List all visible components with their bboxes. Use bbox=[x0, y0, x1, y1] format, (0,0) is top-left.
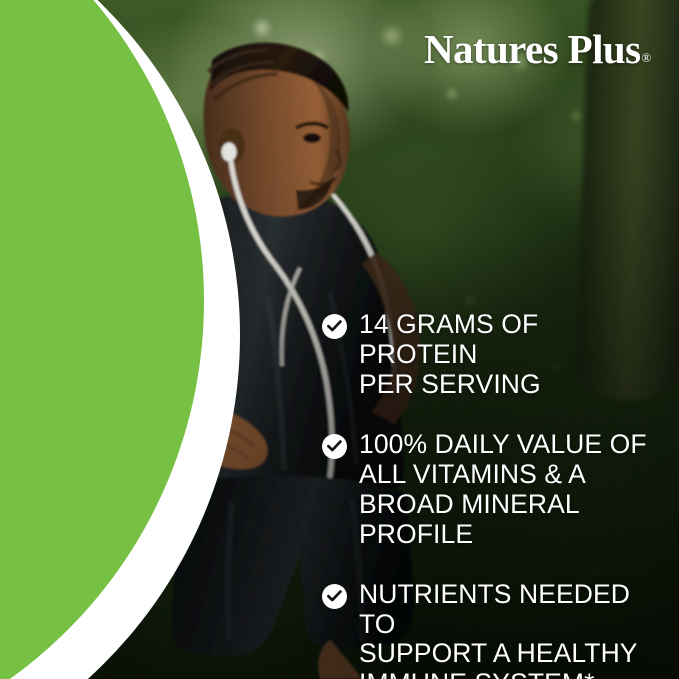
list-item: 100% DAILY VALUE OF ALL VITAMINS & A BRO… bbox=[322, 430, 662, 550]
check-circle-icon bbox=[322, 314, 347, 339]
benefit-text: NUTRIENTS NEEDED TO SUPPORT A HEALTHY IM… bbox=[359, 580, 662, 679]
check-circle-icon bbox=[322, 584, 347, 609]
list-item: 14 GRAMS OF PROTEIN PER SERVING bbox=[322, 310, 662, 400]
benefits-list: 14 GRAMS OF PROTEIN PER SERVING 100% DAI… bbox=[322, 310, 662, 679]
benefit-text: 100% DAILY VALUE OF ALL VITAMINS & A BRO… bbox=[359, 430, 647, 550]
registered-trademark-icon: ® bbox=[641, 50, 650, 65]
benefit-text: 14 GRAMS OF PROTEIN PER SERVING bbox=[359, 310, 662, 400]
check-circle-icon bbox=[322, 434, 347, 459]
product-benefit-banner: Natures Plus® 14 GRAMS OF PROTEIN PER SE… bbox=[0, 0, 679, 679]
brand-logo: Natures Plus® bbox=[424, 29, 650, 70]
brand-name: Natures Plus bbox=[424, 26, 640, 72]
list-item: NUTRIENTS NEEDED TO SUPPORT A HEALTHY IM… bbox=[322, 580, 662, 679]
